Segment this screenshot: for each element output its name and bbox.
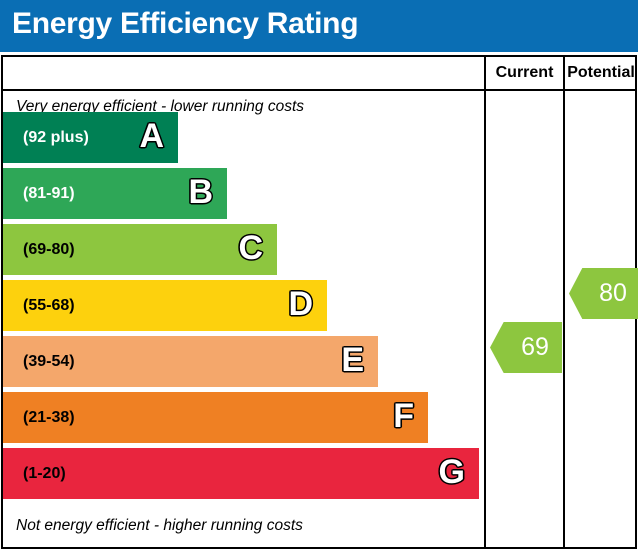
band-range-g: (1-20) [23,465,66,483]
band-bar-d: (55-68)D [3,280,327,331]
energy-efficiency-rating-chart: Energy Efficiency Rating Current Potenti… [0,0,638,550]
band-bar-g: (1-20)G [3,448,479,499]
rating-value-potential: 80 [599,279,627,308]
band-bar-a: (92 plus)A [3,112,178,163]
band-letter-b: B [188,175,213,209]
potential-column-divider [563,57,565,547]
band-bar-f: (21-38)F [3,392,428,443]
rating-value-current: 69 [521,333,549,362]
band-range-d: (55-68) [23,297,75,315]
band-range-a: (92 plus) [23,129,89,147]
band-letter-e: E [341,343,364,377]
band-letter-f: F [393,399,414,433]
band-letter-g: G [439,455,465,489]
band-range-f: (21-38) [23,409,75,427]
current-column-divider [484,57,486,547]
band-letter-c: C [238,231,263,265]
caption-not-efficient: Not energy efficient - higher running co… [16,517,495,535]
band-range-c: (69-80) [23,241,75,259]
column-header-potential: Potential [565,57,637,89]
rating-arrow-current: 69 [490,322,562,373]
band-range-e: (39-54) [23,353,75,371]
band-range-b: (81-91) [23,185,75,203]
band-bar-c: (69-80)C [3,224,277,275]
band-bar-e: (39-54)E [3,336,378,387]
band-letter-a: A [139,119,164,153]
band-letter-d: D [288,287,313,321]
column-header-current: Current [486,57,563,89]
page-title: Energy Efficiency Rating [12,7,358,41]
chart-header-bar: Energy Efficiency Rating [0,0,638,52]
rating-table: Current Potential Very energy efficient … [1,55,637,549]
band-bar-b: (81-91)B [3,168,227,219]
rating-arrow-potential: 80 [569,268,638,319]
bands-area: Very energy efficient - lower running co… [3,89,482,547]
